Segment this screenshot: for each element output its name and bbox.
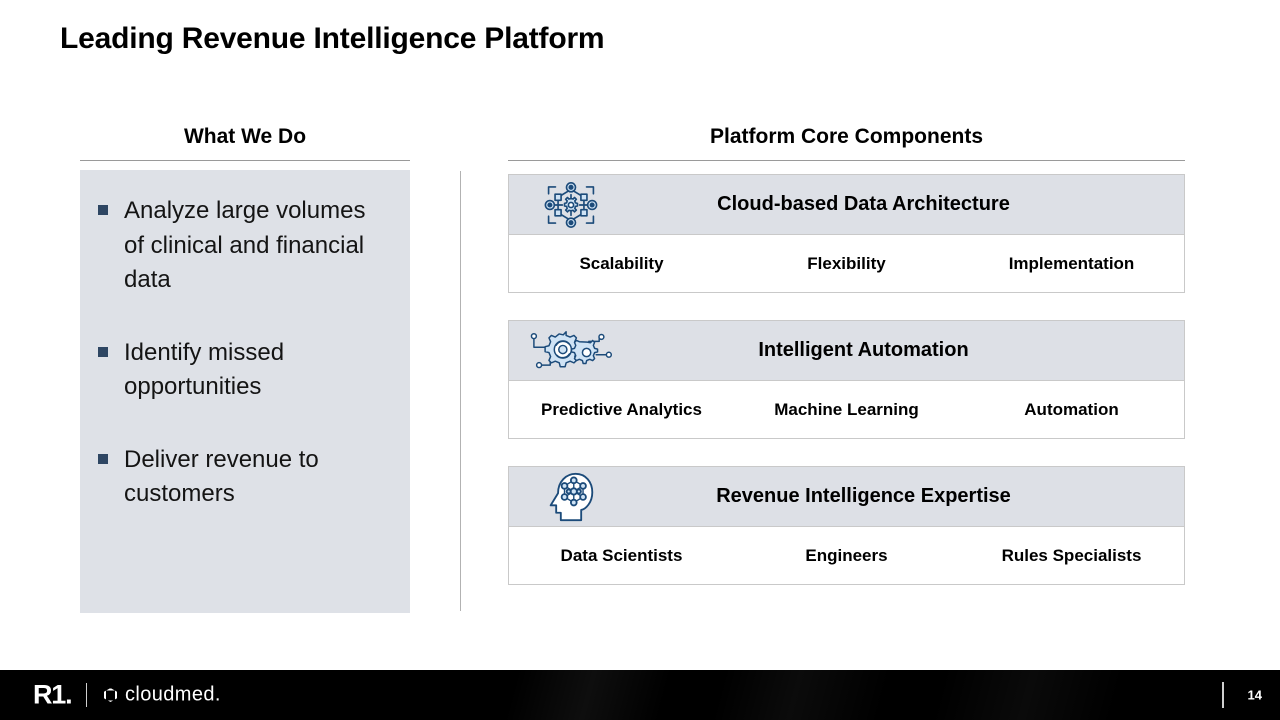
footer-content: R1. cloudmed. 14 <box>0 670 1280 720</box>
list-item: Deliver revenue to customers <box>98 443 392 512</box>
component-item: Implementation <box>959 254 1184 274</box>
right-heading-divider <box>508 160 1185 161</box>
card-header: Intelligent Automation <box>509 321 1184 381</box>
left-heading-divider <box>80 160 410 161</box>
page-number: 14 <box>1248 688 1262 703</box>
square-bullet-icon <box>98 454 108 464</box>
hexagon-icon <box>104 688 117 702</box>
card-header: Cloud-based Data Architecture <box>509 175 1184 235</box>
right-column-heading: Platform Core Components <box>508 125 1185 149</box>
slide-canvas: Leading Revenue Intelligence Platform Wh… <box>0 0 1280 720</box>
list-item: Identify missed opportunities <box>98 336 392 405</box>
list-item: Analyze large volumes of clinical and fi… <box>98 194 392 298</box>
square-bullet-icon <box>98 347 108 357</box>
component-item: Engineers <box>734 546 959 566</box>
component-item: Scalability <box>509 254 734 274</box>
component-item: Flexibility <box>734 254 959 274</box>
component-card-cloud-based-data-architecture: Cloud-based Data Architecture Scalabilit… <box>508 174 1185 293</box>
card-body: Scalability Flexibility Implementation <box>509 235 1184 292</box>
component-item: Machine Learning <box>734 400 959 420</box>
component-item: Automation <box>959 400 1184 420</box>
page-number-divider <box>1222 682 1224 708</box>
left-column-heading: What We Do <box>80 125 410 149</box>
bullet-label: Analyze large volumes of clinical and fi… <box>124 194 392 298</box>
card-body: Predictive Analytics Machine Learning Au… <box>509 381 1184 438</box>
component-card-revenue-intelligence-expertise: Revenue Intelligence Expertise Data Scie… <box>508 466 1185 585</box>
bullet-label: Deliver revenue to customers <box>124 443 392 512</box>
column-divider <box>460 171 461 611</box>
component-item: Rules Specialists <box>959 546 1184 566</box>
component-item: Predictive Analytics <box>509 400 734 420</box>
footer-bar: R1. cloudmed. 14 <box>0 670 1280 720</box>
page-title: Leading Revenue Intelligence Platform <box>60 22 604 56</box>
card-header: Revenue Intelligence Expertise <box>509 467 1184 527</box>
brand-divider <box>86 683 87 707</box>
cloudmed-logo: cloudmed. <box>104 684 221 707</box>
component-item: Data Scientists <box>509 546 734 566</box>
network-gear-architecture-icon <box>525 180 617 230</box>
cloudmed-label: cloudmed. <box>125 684 221 707</box>
component-card-intelligent-automation: Intelligent Automation Predictive Analyt… <box>508 320 1185 439</box>
what-we-do-panel: Analyze large volumes of clinical and fi… <box>80 170 410 613</box>
bullet-label: Identify missed opportunities <box>124 336 392 405</box>
card-body: Data Scientists Engineers Rules Speciali… <box>509 527 1184 584</box>
core-components-list: Cloud-based Data Architecture Scalabilit… <box>508 174 1185 612</box>
dual-gears-circuit-icon <box>525 326 617 376</box>
r1-logo: R1. <box>33 680 71 711</box>
square-bullet-icon <box>98 205 108 215</box>
head-neural-network-icon <box>525 472 617 522</box>
